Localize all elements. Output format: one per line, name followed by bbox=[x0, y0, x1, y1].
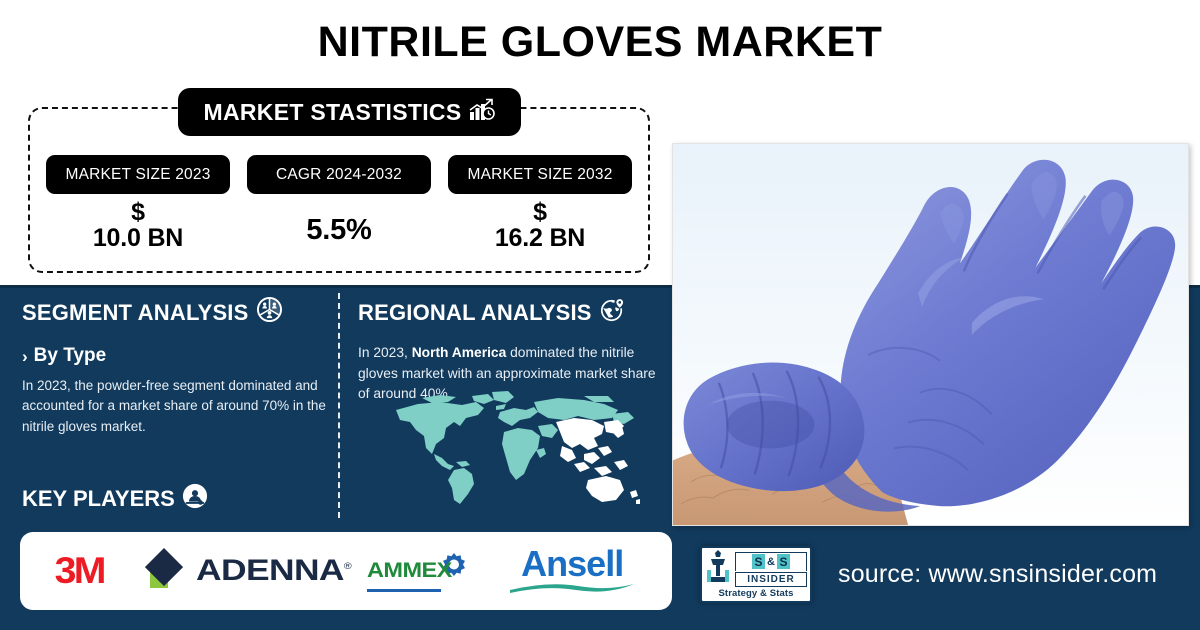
stat-value: 5.5% bbox=[306, 199, 371, 245]
infographic-root: NITRILE GLOVES MARKET MARKET STASTISTICS… bbox=[0, 0, 1200, 630]
ammex-underline bbox=[367, 589, 441, 592]
segment-analysis-body: In 2023, the powder-free segment dominat… bbox=[22, 376, 332, 437]
stat-currency: $ bbox=[93, 199, 183, 225]
logo-adenna[interactable]: ADENNA® bbox=[142, 543, 327, 599]
page-title: NITRILE GLOVES MARKET bbox=[0, 18, 1200, 67]
sns-insider-text: INSIDER bbox=[735, 572, 807, 587]
sns-logo-wordmark: S & S INSIDER bbox=[735, 552, 807, 587]
logo-3m[interactable]: 3M bbox=[56, 543, 102, 599]
market-statistics-cells: MARKET SIZE 2023 $ 10.0 BN CAGR 2024-203… bbox=[28, 155, 650, 252]
king-chess-icon bbox=[705, 550, 731, 589]
stat-label: MARKET SIZE 2032 bbox=[448, 155, 632, 194]
sns-ampersand: & bbox=[767, 556, 775, 568]
logo-3m-text: 3M bbox=[54, 550, 103, 592]
ansell-swoosh-icon bbox=[508, 581, 636, 599]
segment-subheading-label: By Type bbox=[34, 345, 107, 367]
regional-body-bold: North America bbox=[412, 345, 507, 360]
chart-growth-icon bbox=[469, 98, 495, 127]
stat-amount: 5.5% bbox=[306, 214, 371, 246]
logo-ansell[interactable]: Ansell bbox=[508, 543, 636, 599]
stat-amount: 10.0 BN bbox=[93, 224, 183, 252]
footer: S & S INSIDER Strategy & Stats source: w… bbox=[700, 546, 1157, 603]
key-players-heading-label: KEY PLAYERS bbox=[22, 486, 175, 512]
segment-analysis-heading: SEGMENT ANALYSIS bbox=[22, 296, 332, 329]
segment-analysis-heading-label: SEGMENT ANALYSIS bbox=[22, 300, 249, 326]
stat-cell-market-size-2032: MARKET SIZE 2032 $ 16.2 BN bbox=[448, 155, 632, 252]
stat-cell-cagr: CAGR 2024-2032 5.5% bbox=[247, 155, 431, 252]
sns-s2: S bbox=[777, 554, 790, 569]
sns-ss-row: S & S bbox=[735, 552, 807, 571]
key-players-logos: 3M ADENNA® AMMEX bbox=[20, 532, 672, 610]
logo-ammex-text: AMMEX bbox=[367, 559, 452, 583]
segment-analysis-column: SEGMENT ANALYSIS › By Type In 2023, the … bbox=[22, 296, 332, 437]
stat-label: CAGR 2024-2032 bbox=[247, 155, 431, 194]
segmented-pie-people-icon bbox=[256, 296, 283, 329]
regional-analysis-heading-label: REGIONAL ANALYSIS bbox=[358, 300, 592, 326]
stat-label: MARKET SIZE 2023 bbox=[46, 155, 230, 194]
stat-value: $ 10.0 BN bbox=[93, 199, 183, 252]
key-players-heading: KEY PLAYERS bbox=[22, 483, 208, 515]
handshake-badge-icon bbox=[182, 483, 208, 515]
logo-adenna-text: ADENNA® bbox=[196, 554, 351, 588]
column-divider bbox=[338, 293, 340, 518]
sns-logo-top: S & S INSIDER bbox=[705, 551, 807, 587]
segment-subheading: › By Type bbox=[22, 345, 332, 367]
market-statistics-label: MARKET STASTISTICS bbox=[204, 99, 462, 126]
stat-value: $ 16.2 BN bbox=[495, 199, 585, 252]
product-photo bbox=[672, 143, 1189, 526]
regional-body-prefix: In 2023, bbox=[358, 345, 412, 360]
adenna-diamond-icon bbox=[142, 544, 190, 599]
sns-insider-logo[interactable]: S & S INSIDER Strategy & Stats bbox=[700, 546, 812, 603]
regional-analysis-heading: REGIONAL ANALYSIS bbox=[358, 296, 658, 329]
source-url: source: www.snsinsider.com bbox=[838, 560, 1157, 589]
stat-cell-market-size-2023: MARKET SIZE 2023 $ 10.0 BN bbox=[46, 155, 230, 252]
market-statistics-header: MARKET STASTISTICS bbox=[178, 88, 521, 136]
stat-amount: 16.2 BN bbox=[495, 224, 585, 252]
sns-tagline: Strategy & Stats bbox=[705, 588, 807, 599]
world-map bbox=[388, 388, 644, 506]
globe-pin-icon bbox=[599, 296, 626, 329]
logo-ansell-text: Ansell bbox=[521, 543, 623, 585]
chevron-right-icon: › bbox=[22, 348, 28, 365]
stat-currency: $ bbox=[495, 199, 585, 225]
sns-s1: S bbox=[752, 554, 765, 569]
logo-ammex[interactable]: AMMEX bbox=[367, 543, 469, 599]
